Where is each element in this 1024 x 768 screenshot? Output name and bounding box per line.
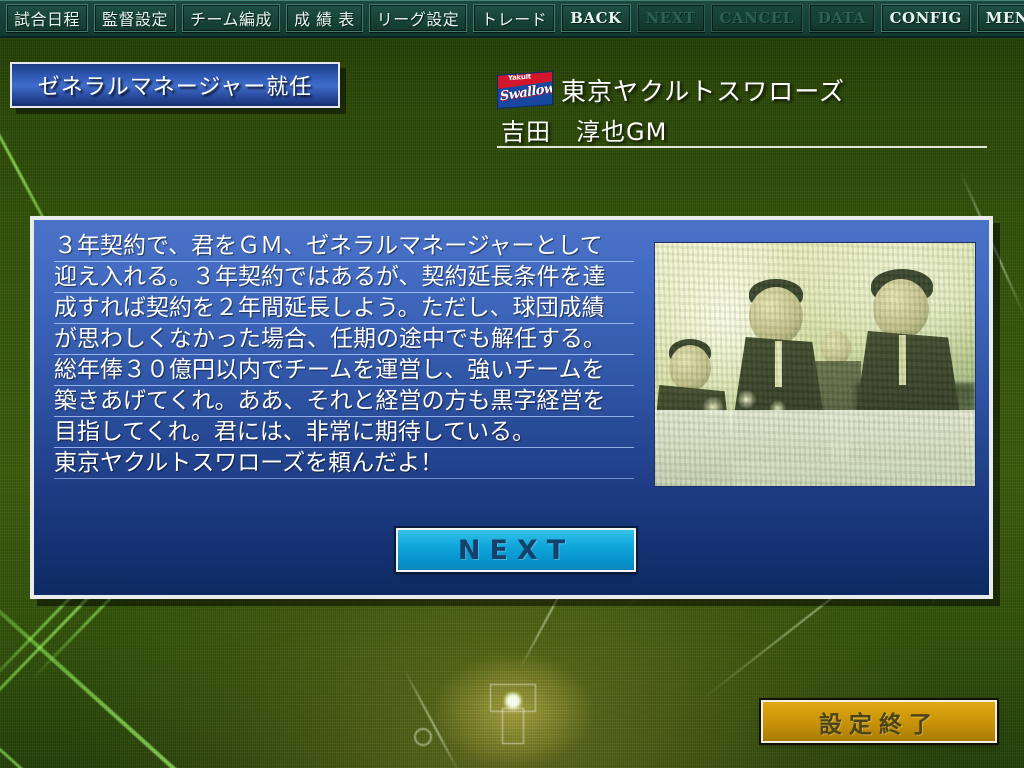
team-header: Yakult Swallows 東京ヤクルトスワローズ 吉田 淳也GM	[497, 72, 987, 148]
team-name: 東京ヤクルトスワローズ	[561, 72, 845, 108]
menu-button[interactable]: MENU	[977, 4, 1024, 32]
back-button[interactable]: BACK	[561, 4, 630, 32]
gm-name: 吉田 淳也GM	[501, 112, 667, 147]
tab-team-roster[interactable]: チーム編成	[182, 4, 280, 32]
page-title-plate: ゼネラルマネージャー就任	[10, 62, 340, 108]
tab-schedule[interactable]: 試合日程	[6, 4, 88, 32]
press-conference-photo	[654, 242, 976, 487]
top-navigation-bar: 試合日程監督設定チーム編成成 績 表リーグ設定トレード BACKNEXTCANC…	[0, 0, 1024, 38]
message-line: 成すれば契約を２年間延長しよう。ただし、球団成績	[54, 293, 634, 324]
tab-manager-settings[interactable]: 監督設定	[94, 4, 176, 32]
menu-button-group: 試合日程監督設定チーム編成成 績 表リーグ設定トレード	[0, 4, 555, 32]
message-line: 東京ヤクルトスワローズを頼んだよ！	[54, 448, 634, 479]
gm-name-row: 吉田 淳也GM	[497, 112, 987, 148]
next-button-topbar: NEXT	[637, 4, 705, 32]
data-button: DATA	[809, 4, 875, 32]
tab-standings[interactable]: 成 績 表	[286, 4, 363, 32]
finish-settings-label: 設定終了	[819, 705, 939, 739]
next-button-label: NEXT	[458, 535, 574, 566]
message-line: ３年契約で、君をＧＭ、ゼネラルマネージャーとして	[54, 231, 634, 262]
message-line: 築きあげてくれ。ああ、それと経営の方も黒字経営を	[54, 386, 634, 417]
message-text-block: ３年契約で、君をＧＭ、ゼネラルマネージャーとして迎え入れる。３年契約ではあるが、…	[54, 231, 634, 479]
message-line: 目指してくれ。君には、非常に期待している。	[54, 417, 634, 448]
message-line: 総年俸３０億円以内でチームを運営し、強いチームを	[54, 355, 634, 386]
message-line: が思わしくなかった場合、任期の途中でも解任する。	[54, 324, 634, 355]
game-screen: 試合日程監督設定チーム編成成 績 表リーグ設定トレード BACKNEXTCANC…	[0, 0, 1024, 768]
team-name-row: Yakult Swallows 東京ヤクルトスワローズ	[497, 72, 987, 108]
next-button[interactable]: NEXT	[396, 528, 636, 572]
finish-settings-button[interactable]: 設定終了	[761, 700, 997, 743]
page-title: ゼネラルマネージャー就任	[38, 69, 312, 101]
tab-league-settings[interactable]: リーグ設定	[369, 4, 468, 32]
message-dialog: ３年契約で、君をＧＭ、ゼネラルマネージャーとして迎え入れる。３年契約ではあるが、…	[30, 216, 993, 599]
system-button-group: BACKNEXTCANCELDATACONFIGMENU	[555, 4, 1024, 32]
tab-trade[interactable]: トレード	[473, 4, 555, 32]
config-button[interactable]: CONFIG	[881, 4, 971, 32]
cancel-button: CANCEL	[711, 4, 803, 32]
team-logo-icon: Yakult Swallows	[497, 71, 553, 109]
message-line: 迎え入れる。３年契約ではあるが、契約延長条件を達	[54, 262, 634, 293]
